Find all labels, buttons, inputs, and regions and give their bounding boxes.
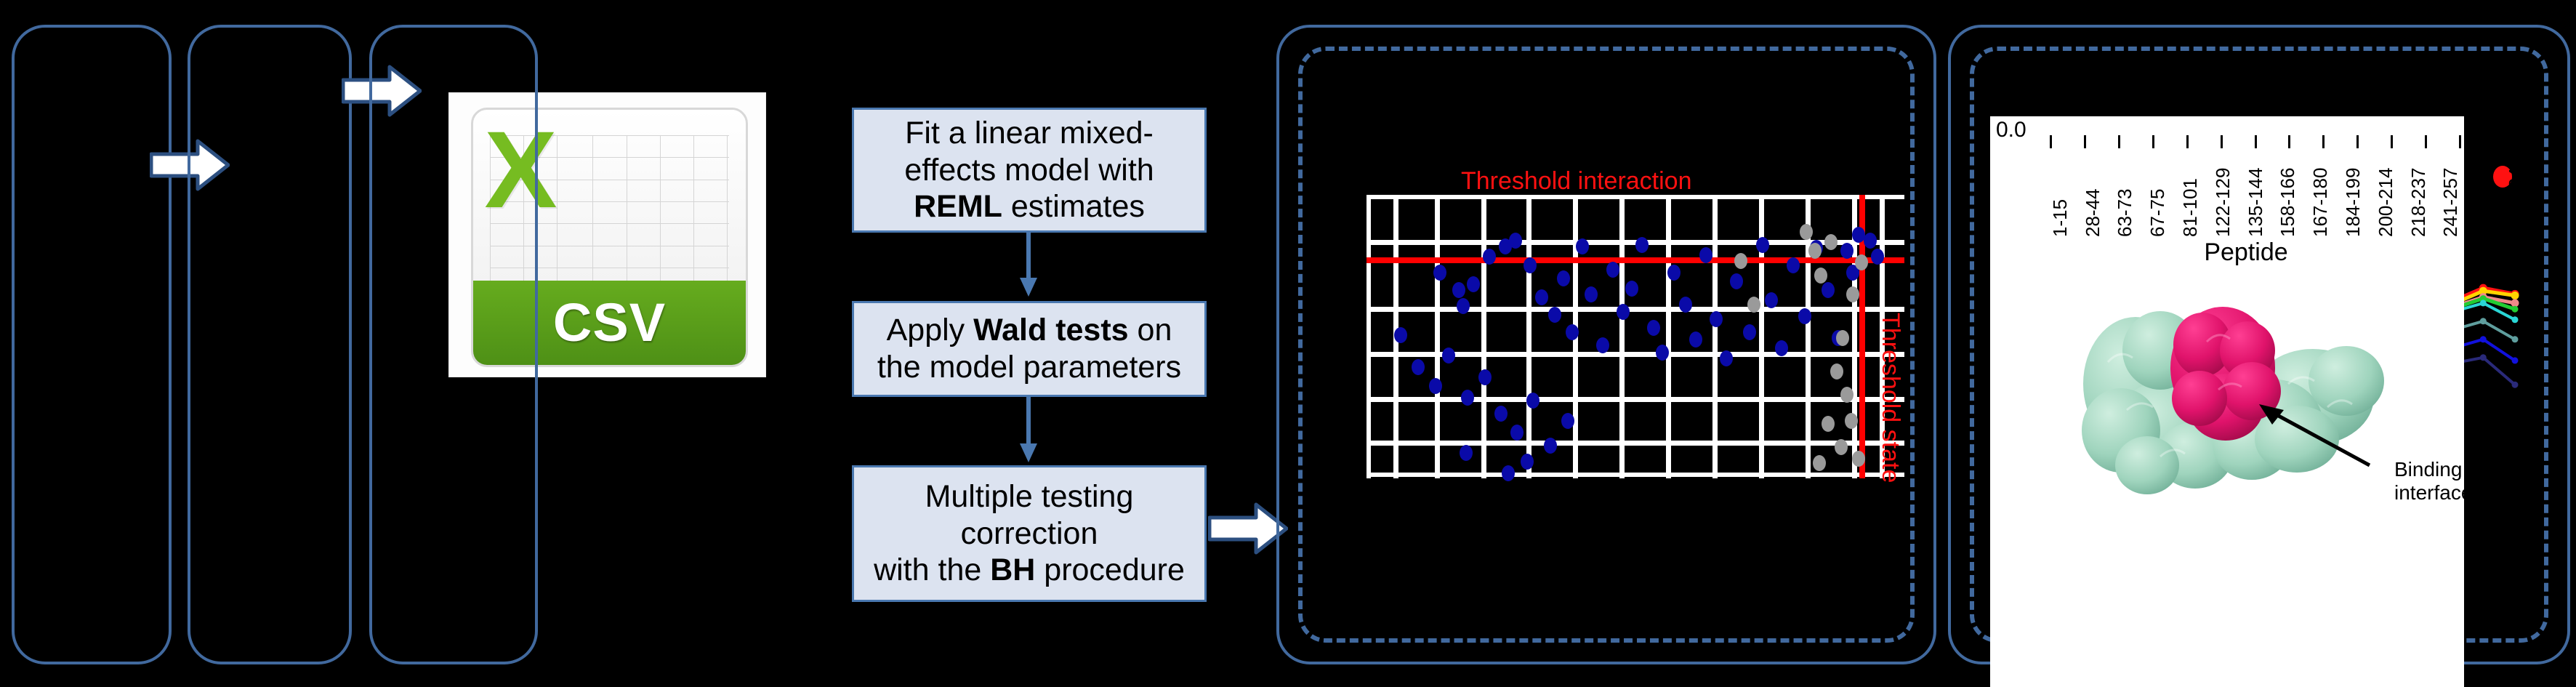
x-tick-label-7: 158-166 (2272, 150, 2305, 237)
x-tick-label-1: 28-44 (2077, 150, 2109, 237)
step-multiple-testing-text: Multiple testing correction with the BH … (874, 478, 1185, 589)
x-tick-label-text: 67-75 (2146, 150, 2169, 237)
x-axis-ticks (2050, 135, 2529, 148)
binding-interface-line1: Binding (2394, 458, 2540, 481)
threshold-interaction-line (1367, 257, 1904, 263)
threshold-interaction-label: Threshold interaction (1461, 167, 1692, 196)
panel-statistics (369, 25, 538, 664)
series-point (2512, 306, 2519, 313)
x-tick-label-5: 122-129 (2207, 150, 2239, 237)
series-point (2511, 292, 2519, 300)
x-tick-label-text: 218-237 (2407, 150, 2430, 237)
x-tick-label-3: 67-75 (2141, 150, 2174, 237)
series-point (2480, 336, 2487, 342)
series-point (2480, 300, 2487, 306)
x-tick-label-11: 218-237 (2402, 150, 2435, 237)
x-tick-label-12: 241-257 (2435, 150, 2468, 237)
x-tick-label-text: 258-266 (2472, 150, 2495, 237)
x-tick-label-9: 184-199 (2337, 150, 2370, 237)
step-multiple-testing-box[interactable]: Multiple testing correction with the BH … (852, 465, 1207, 602)
step-fit-model-box[interactable]: Fit a linear mixed- effects model with R… (852, 108, 1207, 233)
binding-interface-annotation: Binding interface (2394, 458, 2540, 505)
binding-interface-line2: interface (2394, 481, 2540, 505)
x-tick-label-10: 200-214 (2370, 150, 2402, 237)
series-point (2480, 318, 2487, 324)
panel-input (12, 25, 172, 664)
step-wald-tests-text: Apply Wald tests on the model parameters (877, 312, 1181, 385)
x-tick-label-text: 184-199 (2342, 150, 2364, 237)
x-tick-label-text: 28-44 (2082, 150, 2104, 237)
series-point (2512, 336, 2519, 342)
csv-label: CSV (553, 292, 666, 353)
x-tick-label-text: 122-129 (2212, 150, 2234, 237)
protein-structure-image (2057, 275, 2406, 515)
x-tick-label-text: 63-73 (2114, 150, 2136, 237)
step-connector-1 (1018, 233, 1039, 298)
scatter-plot (1367, 195, 1904, 478)
x-tick-label-4: 81-101 (2174, 150, 2207, 237)
x-tick-label-text: 167-180 (2309, 150, 2332, 237)
x-tick-label-text: 200-214 (2375, 150, 2397, 237)
x-axis-title: Peptide (2152, 238, 2340, 267)
series-point (2512, 382, 2519, 388)
x-tick-label-8: 167-180 (2304, 150, 2337, 237)
x-tick-label-0: 1-15 (2044, 150, 2077, 237)
series-point (2512, 357, 2519, 363)
figure-canvas: X CSV Fit a linear mixed- effects model … (0, 0, 2576, 687)
panel-data-file (188, 25, 352, 664)
x-tick-label-text: 81-101 (2179, 150, 2202, 237)
x-tick-label-2: 63-73 (2109, 150, 2142, 237)
x-tick-label-13: 258-266 (2467, 150, 2500, 237)
x-tick-label-text: 241-257 (2439, 150, 2462, 237)
threshold-state-label: Threshold state (1876, 313, 1904, 483)
x-tick-label-text: 158-166 (2277, 150, 2299, 237)
x-tick-label-text: 277-284 (2505, 150, 2527, 237)
step-connector-2 (1018, 397, 1039, 464)
x-tick-label-14: 277-284 (2500, 150, 2532, 237)
series-point (2480, 354, 2487, 361)
x-tick-label-6: 135-144 (2239, 150, 2272, 237)
y-axis-label: 0.0 (1996, 118, 2026, 142)
series-point (2512, 316, 2519, 323)
x-tick-label-text: 1-15 (2049, 150, 2072, 237)
x-tick-label-text: 135-144 (2245, 150, 2267, 237)
x-axis-tick-labels: 1-1528-4463-7367-7581-101122-129135-1441… (2044, 150, 2532, 237)
step-fit-model-text: Fit a linear mixed- effects model with R… (904, 115, 1154, 225)
step-wald-tests-box[interactable]: Apply Wald tests on the model parameters (852, 301, 1207, 397)
